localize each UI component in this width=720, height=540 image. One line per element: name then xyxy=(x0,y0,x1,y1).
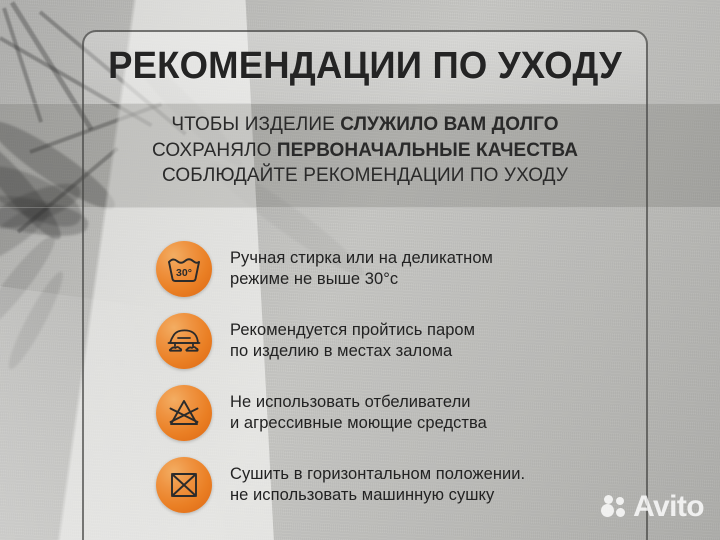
subtitle-line-1: ЧТОБЫ ИЗДЕЛИЕ СЛУЖИЛО ВАМ ДОЛГО xyxy=(82,112,648,138)
tonal-band-bottom-edge xyxy=(0,207,720,208)
care-tips-list: 30° Ручная стирка или на деликатном режи… xyxy=(156,240,636,528)
subtitle-line-3: СОБЛЮДАЙТЕ РЕКОМЕНДАЦИИ ПО УХОДУ xyxy=(82,163,648,189)
list-item-label: Сушить в горизонтальном положении. не ис… xyxy=(230,464,525,506)
list-item: Сушить в горизонтальном положении. не ис… xyxy=(156,456,636,514)
subtitle-block: ЧТОБЫ ИЗДЕЛИЕ СЛУЖИЛО ВАМ ДОЛГО СОХРАНЯЛ… xyxy=(82,112,648,189)
wash-tub-30-icon: 30° xyxy=(156,241,212,297)
page-title: РЕКОМЕНДАЦИИ ПО УХОДУ xyxy=(93,44,636,88)
subtitle-line-2-bold: ПЕРВОНАЧАЛЬНЫЕ КАЧЕСТВА xyxy=(277,140,578,161)
list-item: Рекомендуется пройтись паром по изделию … xyxy=(156,312,636,370)
subtitle-line-1-regular: ЧТОБЫ ИЗДЕЛИЕ xyxy=(171,114,340,135)
do-not-tumble-dry-icon xyxy=(156,457,212,513)
list-item-label: Ручная стирка или на деликатном режиме н… xyxy=(230,248,493,290)
subtitle-line-2: СОХРАНЯЛО ПЕРВОНАЧАЛЬНЫЕ КАЧЕСТВА xyxy=(82,138,648,164)
care-instructions-poster: РЕКОМЕНДАЦИИ ПО УХОДУ ЧТОБЫ ИЗДЕЛИЕ СЛУЖ… xyxy=(0,0,720,540)
list-item: 30° Ручная стирка или на деликатном режи… xyxy=(156,240,636,298)
subtitle-line-2-regular: СОХРАНЯЛО xyxy=(152,140,277,161)
list-item: Не использовать отбеливатели и агрессивн… xyxy=(156,384,636,442)
list-item-label: Не использовать отбеливатели и агрессивн… xyxy=(230,392,487,434)
subtitle-line-1-bold: СЛУЖИЛО ВАМ ДОЛГО xyxy=(340,114,558,135)
list-item-label: Рекомендуется пройтись паром по изделию … xyxy=(230,320,475,362)
avito-logo-icon xyxy=(601,495,627,519)
avito-watermark: Avito xyxy=(601,492,704,522)
wash-temp-label: 30° xyxy=(176,267,192,279)
steam-iron-icon xyxy=(156,313,212,369)
do-not-bleach-icon xyxy=(156,385,212,441)
avito-wordmark: Avito xyxy=(633,492,704,522)
